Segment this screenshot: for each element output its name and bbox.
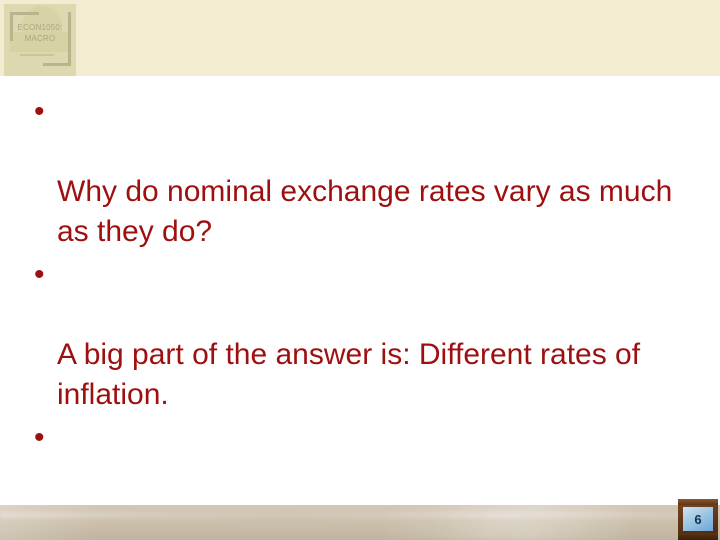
footer-image-band [0,505,720,540]
logo-bracket-bottom-right-icon [43,63,71,66]
course-logo: ECON1050: MACRO [4,4,76,76]
bullet-item: • Why do nominal exchange rates vary as … [28,92,700,252]
bullet-text: Why do nominal exchange rates vary as mu… [57,175,672,248]
course-logo-line-1: ECON1050: [4,22,76,33]
bullet-marker-icon: • [34,92,48,132]
slide-canvas: ECON1050: MACRO • Why do nominal exchang… [0,0,720,540]
band-highlight-streak-b [380,505,640,540]
badge-panel: 6 [683,507,713,531]
header-band: ECON1050: MACRO [0,0,720,76]
bullet-text: A big part of the answer is: Different r… [57,338,640,411]
page-number-badge: 6 [678,499,718,540]
badge-frame-bottom [678,533,718,540]
logo-bracket-underline-icon [20,54,54,56]
bullet-list: • Why do nominal exchange rates vary as … [28,92,700,540]
badge-frame-top [678,499,718,505]
bullet-marker-icon: • [34,255,48,295]
course-logo-text: ECON1050: MACRO [4,22,76,44]
slide-body: • Why do nominal exchange rates vary as … [0,76,720,505]
course-logo-line-2: MACRO [4,33,76,44]
page-number-text: 6 [694,513,701,526]
bullet-marker-icon: • [34,418,48,458]
bullet-item: • A big part of the answer is: Different… [28,255,700,415]
